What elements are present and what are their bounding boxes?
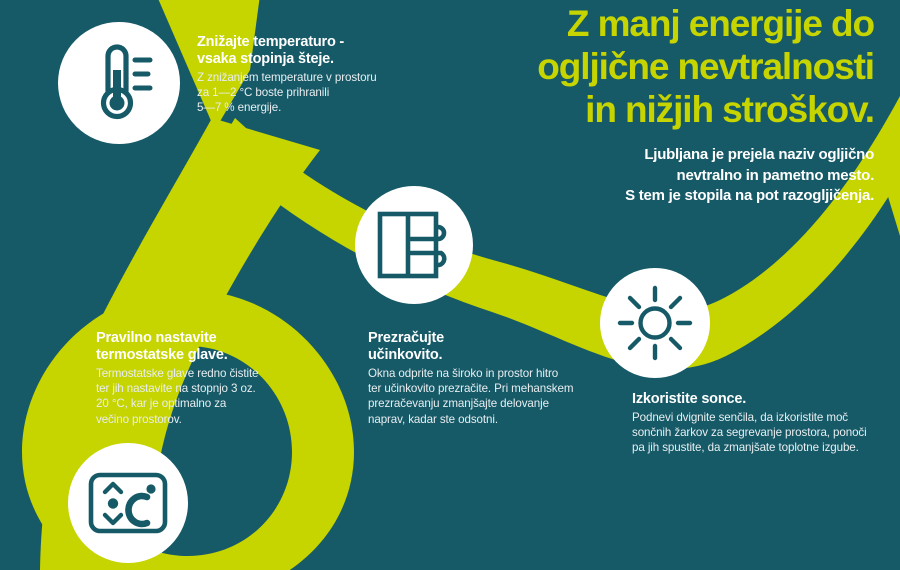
tip-title: Znižajte temperaturo - vsaka stopinja št… (197, 34, 412, 68)
tip-text-thermostat: Pravilno nastavite termostatske glave. T… (96, 330, 311, 427)
tip-title: Izkoristite sonce. (632, 391, 884, 408)
tip-text-ventilation: Prezračujte učinkovito. Okna odprite na … (368, 330, 598, 427)
page-title: Z manj energije do ogljične nevtralnosti… (444, 2, 874, 131)
tip-text-sun: Izkoristite sonce. Podnevi dvignite senč… (632, 391, 884, 456)
tip-body: Z znižanjem temperature v prostoru za 1—… (197, 70, 412, 116)
tip-title: Pravilno nastavite termostatske glave. (96, 330, 311, 364)
tip-body: Podnevi dvignite senčila, da izkoristite… (632, 410, 884, 456)
page-subtitle: Ljubljana je prejela naziv ogljično nevt… (444, 145, 874, 207)
tip-icon-bubble-sun (600, 268, 710, 378)
infographic-canvas: Z manj energije do ogljične nevtralnosti… (0, 0, 900, 570)
headline-block: Z manj energije do ogljične nevtralnosti… (444, 2, 874, 207)
footer-logos: Mestna občina Ljubljana LJUBLJANA Zelena… (0, 496, 900, 566)
tip-icon-bubble-temperature (58, 22, 180, 144)
tip-body: Termostatske glave redno čistite ter jih… (96, 366, 311, 427)
tip-text-temperature: Znižajte temperaturo - vsaka stopinja št… (197, 34, 412, 116)
tip-title: Prezračujte učinkovito. (368, 330, 598, 364)
thermometer-icon (82, 43, 156, 123)
window-airflow-icon (375, 208, 453, 282)
sun-icon (617, 285, 693, 361)
tip-body: Okna odprite na široko in prostor hitro … (368, 366, 598, 427)
